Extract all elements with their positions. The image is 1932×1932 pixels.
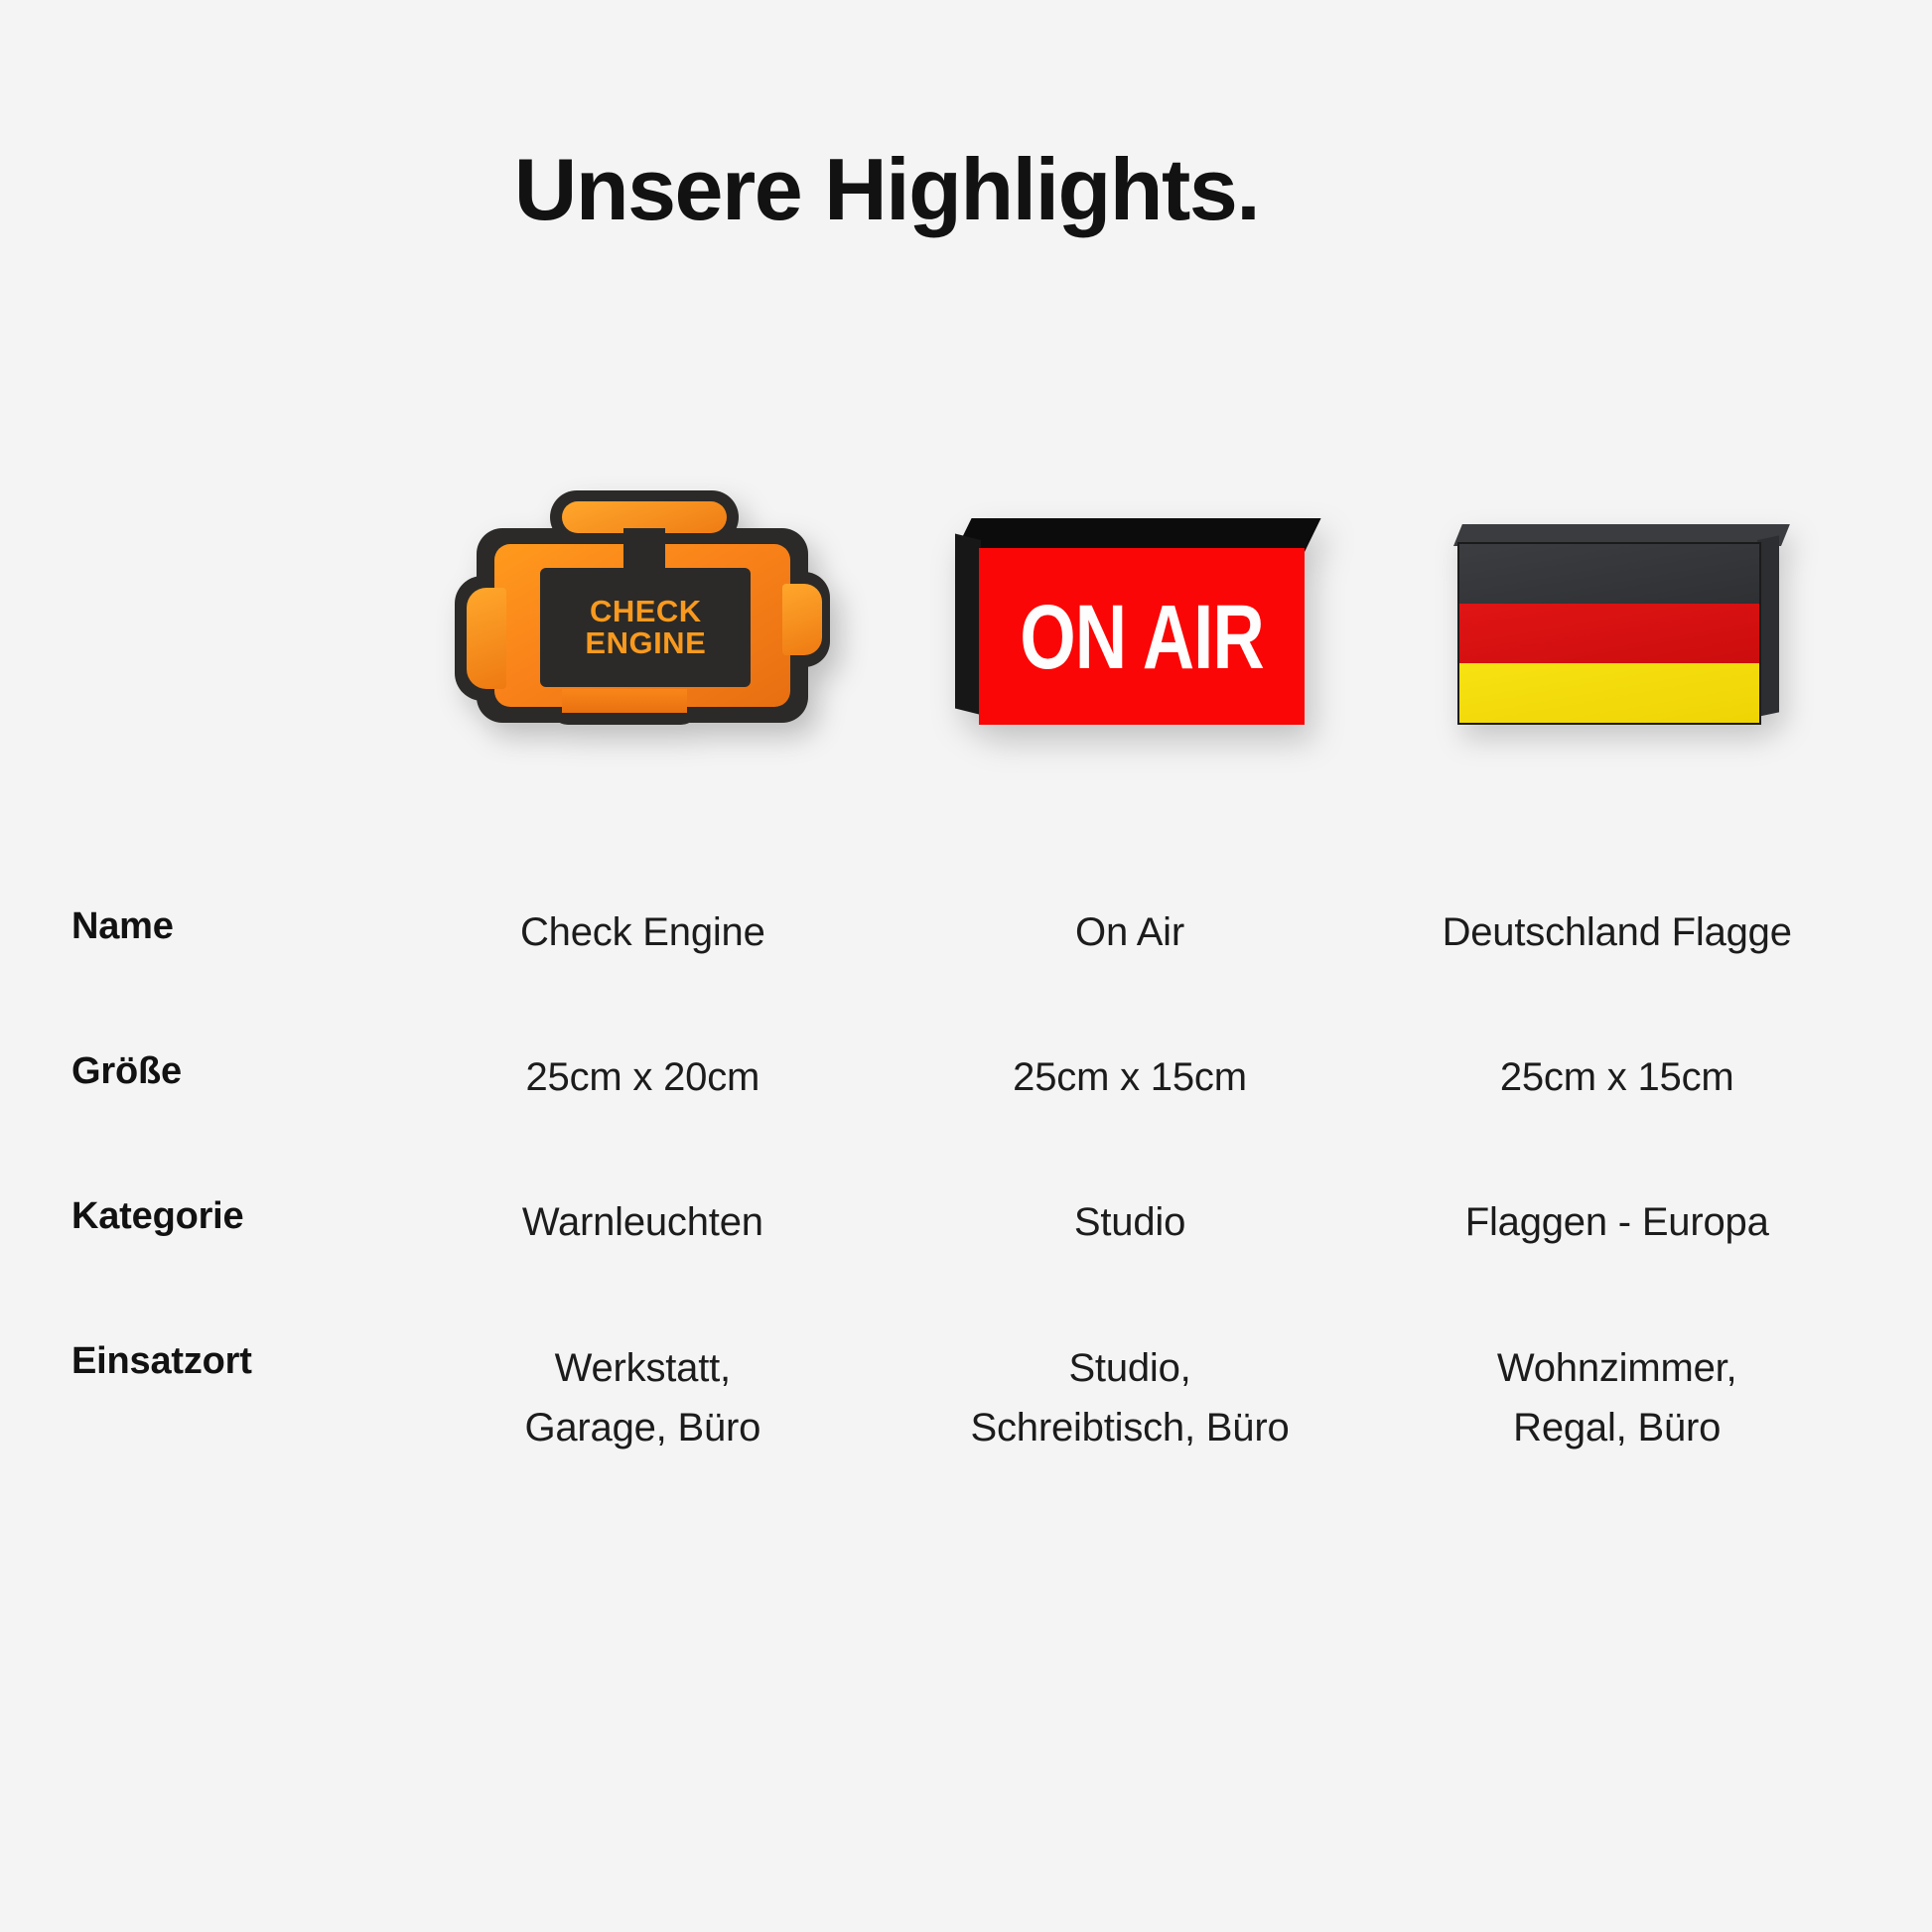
on-air-text: ON AIR <box>1020 583 1264 689</box>
row-label-kategorie: Kategorie <box>71 1193 399 1238</box>
product-image-row: CHECK ENGINE ON AIR <box>71 427 1861 725</box>
label-column-spacer <box>71 427 399 725</box>
product-cell-on-air[interactable]: ON AIR <box>887 427 1374 725</box>
cell-name-on-air: On Air <box>887 903 1374 961</box>
cell-usage-deutschland-flagge: Wohnzimmer,Regal, Büro <box>1373 1338 1861 1457</box>
check-engine-lamp-icon[interactable]: CHECK ENGINE <box>455 477 830 725</box>
row-label-einsatzort: Einsatzort <box>71 1338 399 1383</box>
check-engine-foot-fill <box>562 689 687 713</box>
cell-category-deutschland-flagge: Flaggen - Europa <box>1373 1193 1861 1251</box>
table-row: Kategorie Warnleuchten Studio Flaggen - … <box>71 1193 1861 1251</box>
highlights-page: Unsere Highlights. CHECK ENGINE <box>0 0 1932 1932</box>
check-engine-right-lug-fill <box>782 584 822 655</box>
table-row: Größe 25cm x 20cm 25cm x 15cm 25cm x 15c… <box>71 1048 1861 1106</box>
table-row: Einsatzort Werkstatt,Garage, Büro Studio… <box>71 1338 1861 1457</box>
germany-flag-lightbox-icon[interactable] <box>1453 524 1781 725</box>
cell-category-check-engine: Warnleuchten <box>399 1193 887 1251</box>
cell-category-on-air: Studio <box>887 1193 1374 1251</box>
cell-size-deutschland-flagge: 25cm x 15cm <box>1373 1048 1861 1106</box>
cell-usage-check-engine: Werkstatt,Garage, Büro <box>399 1338 887 1457</box>
check-engine-neck <box>623 528 665 568</box>
product-cell-deutschland-flagge[interactable] <box>1373 427 1861 725</box>
cell-name-deutschland-flagge: Deutschland Flagge <box>1373 903 1861 961</box>
table-row: Name Check Engine On Air Deutschland Fla… <box>71 903 1861 961</box>
page-title: Unsere Highlights. <box>0 139 1932 240</box>
check-engine-text-plate: CHECK ENGINE <box>540 568 751 687</box>
on-air-front-face: ON AIR <box>979 548 1305 725</box>
product-cell-check-engine[interactable]: CHECK ENGINE <box>399 427 887 725</box>
flag-band-black <box>1459 544 1759 604</box>
on-air-top-face <box>955 518 1321 552</box>
row-label-name: Name <box>71 903 399 948</box>
check-engine-text-line-2: ENGINE <box>585 627 706 659</box>
cell-name-check-engine: Check Engine <box>399 903 887 961</box>
flag-band-gold <box>1459 663 1759 723</box>
spec-table: Name Check Engine On Air Deutschland Fla… <box>71 903 1861 1457</box>
check-engine-text-line-1: CHECK <box>590 596 702 627</box>
on-air-side-face <box>955 534 981 715</box>
flag-band-red <box>1459 604 1759 663</box>
cell-size-on-air: 25cm x 15cm <box>887 1048 1374 1106</box>
check-engine-left-lug-fill <box>467 588 506 689</box>
cell-usage-on-air: Studio,Schreibtisch, Büro <box>887 1338 1374 1457</box>
flag-front-face <box>1457 542 1761 725</box>
row-label-groesse: Größe <box>71 1048 399 1093</box>
cell-size-check-engine: 25cm x 20cm <box>399 1048 887 1106</box>
on-air-lightbox-icon[interactable]: ON AIR <box>955 518 1305 725</box>
